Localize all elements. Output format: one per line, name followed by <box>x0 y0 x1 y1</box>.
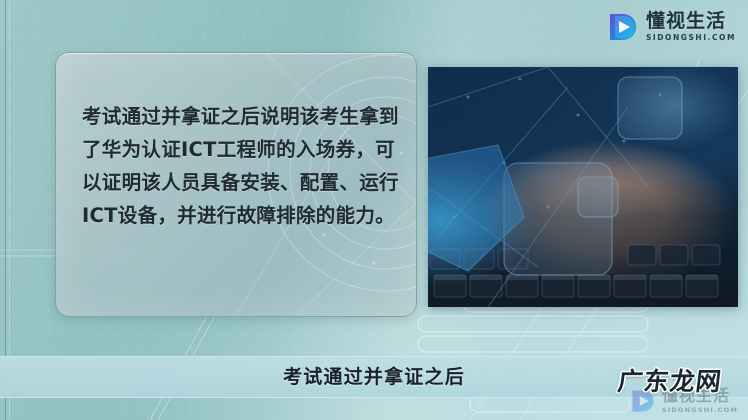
brand-name-en: SIDONGSHI.COM <box>646 34 736 42</box>
brand-name-cn: 懂视生活 <box>646 12 736 31</box>
video-player-frame: 考试通过并拿证之后说明该考生拿到了华为认证ICT工程师的入场券，可以证明该人员具… <box>0 0 748 420</box>
slide-photo <box>428 67 738 307</box>
brand-logo-text: 懂视生活 SIDONGSHI.COM <box>646 12 736 42</box>
brand-logo: 懂视生活 SIDONGSHI.COM <box>607 11 736 43</box>
photo-color-tint <box>428 67 738 307</box>
play-d-logo-icon <box>607 11 639 43</box>
brand-name-en-watermark: SIDONGSHI.COM <box>662 407 738 414</box>
slide-body-text: 考试通过并拿证之后说明该考生拿到了华为认证ICT工程师的入场券，可以证明该人员具… <box>82 100 400 232</box>
site-watermark: 广东龙网 <box>616 362 724 398</box>
content-card: 考试通过并拿证之后说明该考生拿到了华为认证ICT工程师的入场券，可以证明该人员具… <box>55 52 417 317</box>
